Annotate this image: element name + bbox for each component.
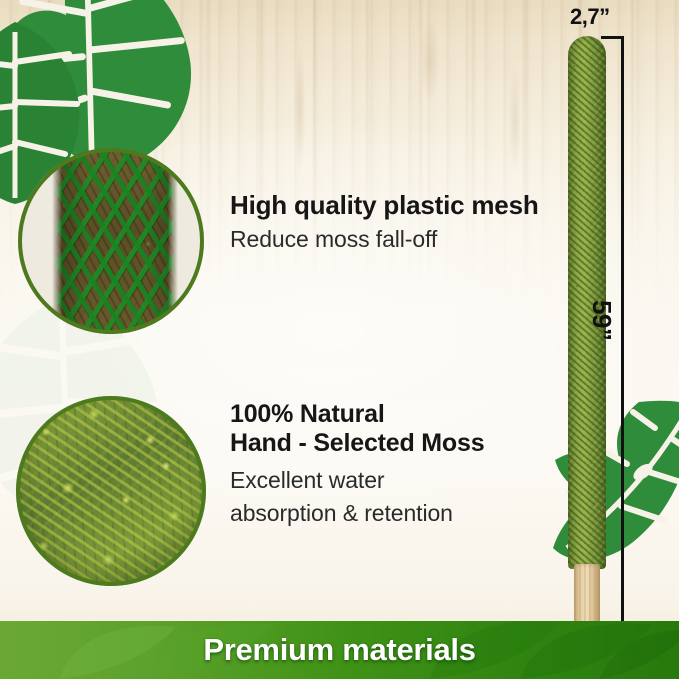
moss-pole bbox=[566, 36, 608, 646]
dimension-label-width: 2,7” bbox=[570, 4, 610, 30]
feature-heading-moss-line2: Hand - Selected Moss bbox=[230, 429, 484, 458]
product-infographic: High quality plastic mesh Reduce moss fa… bbox=[0, 0, 679, 679]
feature-subtext-mesh: Reduce moss fall-off bbox=[230, 225, 539, 253]
feature-text-mesh: High quality plastic mesh Reduce moss fa… bbox=[230, 190, 539, 253]
dimension-bracket-tick-top bbox=[601, 36, 624, 39]
feature-subtext-moss-line2: absorption & retention bbox=[230, 499, 484, 527]
feature-heading-moss-line1: 100% Natural bbox=[230, 400, 484, 429]
inset-vignette bbox=[16, 396, 206, 586]
dimension-label-height: 59” bbox=[586, 300, 617, 340]
feature-subtext-moss-line1: Excellent water bbox=[230, 466, 484, 494]
inset-plastic-mesh bbox=[18, 148, 204, 334]
feature-heading-mesh: High quality plastic mesh bbox=[230, 190, 539, 220]
banner-title: Premium materials bbox=[0, 621, 679, 679]
inset-natural-moss bbox=[16, 396, 206, 586]
feature-text-moss: 100% Natural Hand - Selected Moss Excell… bbox=[230, 400, 484, 527]
premium-materials-banner: Premium materials bbox=[0, 621, 679, 679]
inset-background-wall bbox=[18, 148, 204, 334]
dimension-bracket-line bbox=[621, 36, 624, 646]
